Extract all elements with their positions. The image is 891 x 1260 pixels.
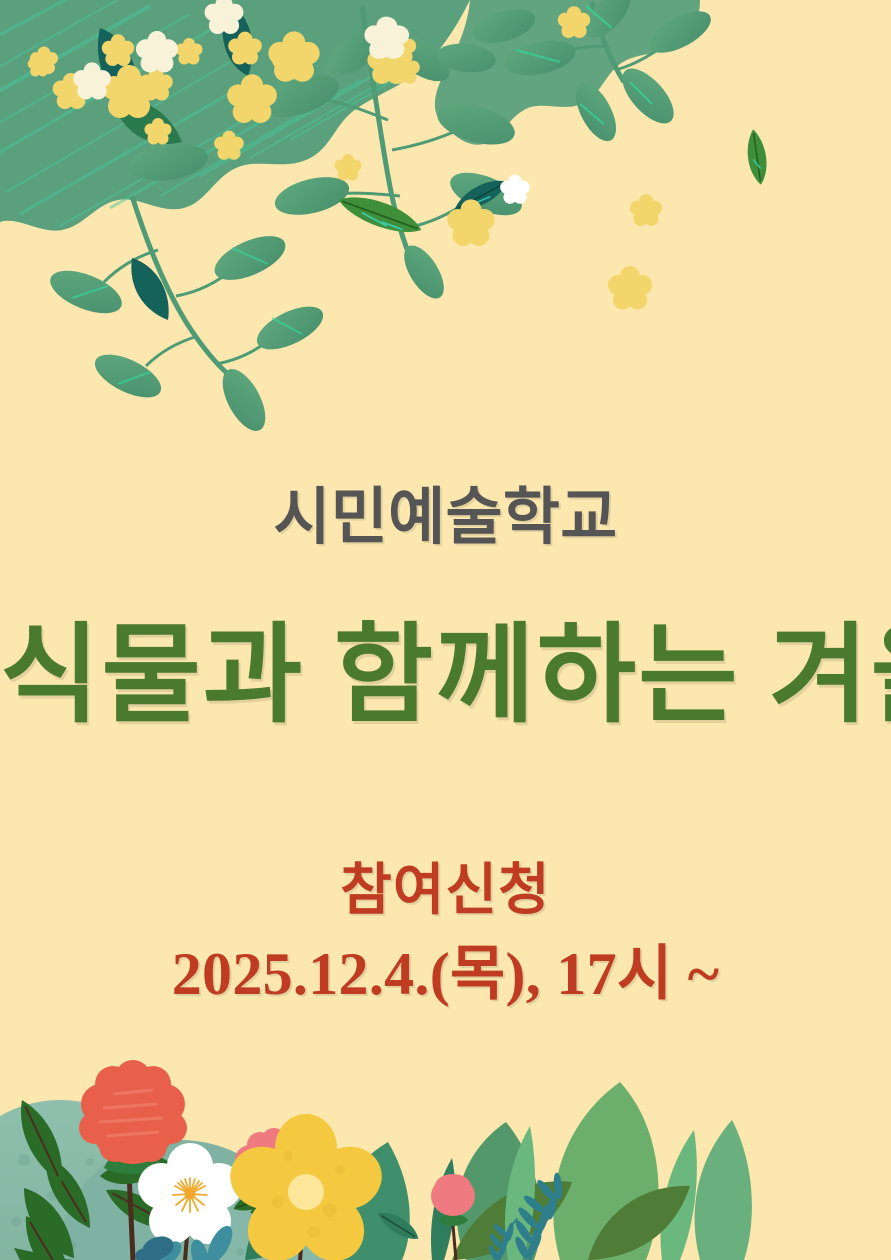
poster-text-block: 시민예술학교 식물과 함께하는 겨울 참여신청 2025.12.4.(목), 1… — [0, 0, 891, 1260]
page-title: 식물과 함께하는 겨울 — [0, 588, 891, 744]
apply-label: 참여신청 — [0, 845, 891, 926]
poster-canvas: 시민예술학교 식물과 함께하는 겨울 참여신청 2025.12.4.(목), 1… — [0, 0, 891, 1260]
program-label: 시민예술학교 — [0, 466, 891, 556]
apply-datetime: 2025.12.4.(목), 17시 ~ — [0, 925, 891, 1012]
